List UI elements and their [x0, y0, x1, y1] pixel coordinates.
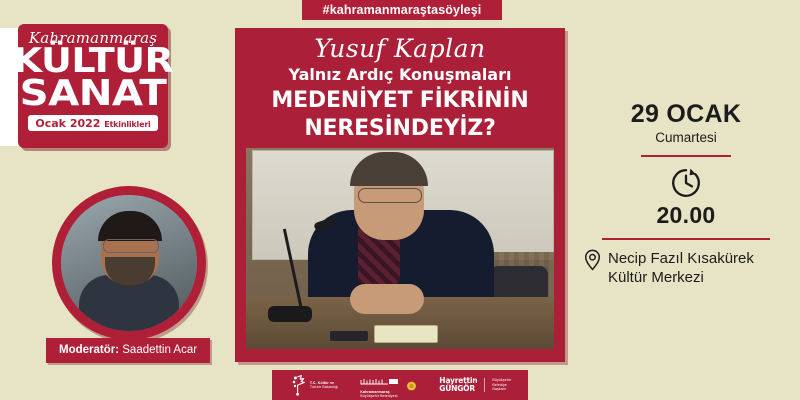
- event-date: 29 OCAK: [580, 100, 792, 128]
- divider-bottom: [602, 238, 770, 240]
- moderator-glasses: [103, 239, 159, 253]
- mayor-title-line-3: Başkanı: [492, 387, 511, 391]
- municipality-text: Kahramanmaraş Büyükşehir Belediyesi: [360, 372, 402, 399]
- clock-icon-wrap: [580, 166, 792, 200]
- location-pin-icon: [584, 249, 601, 271]
- logo-badge-small: Etkinlikleri: [104, 120, 150, 129]
- photo-book: [374, 325, 438, 343]
- speaker-name: Yusuf Kaplan: [235, 34, 565, 64]
- mayor-divider: [484, 378, 485, 392]
- event-card: Yusuf Kaplan Yalnız Ardıç Konuşmaları ME…: [235, 28, 565, 362]
- moderator-photo: [61, 195, 197, 331]
- logo-badge-main: Ocak 2022: [35, 117, 100, 130]
- event-title-line2: NERESİNDEYİZ?: [235, 117, 565, 141]
- event-poster: Kahramanmaraş KÜLTÜR SANAT Ocak 2022 Etk…: [0, 0, 800, 400]
- photo-speaker-glasses: [358, 188, 422, 203]
- event-info-panel: 29 OCAK Cumartesi 20.00 Necip Fazıl Kısa…: [580, 100, 792, 287]
- sponsor-footer-bar: T.C. Kültür ve Turizm Bakanlığı Kahraman…: [272, 370, 528, 400]
- ministry-text: T.C. Kültür ve Turizm Bakanlığı: [310, 381, 338, 390]
- sponsor-municipality: Kahramanmaraş Büyükşehir Belediyesi: [360, 372, 417, 399]
- mayor-name-line-2: GÜNGÖR: [439, 385, 477, 393]
- event-weekday: Cumartesi: [580, 129, 792, 147]
- logo-date-badge: Ocak 2022 Etkinlikleri: [28, 115, 157, 131]
- speaker-photo: [246, 148, 554, 349]
- venue-text: Necip Fazıl Kısakürek Kültür Merkezi: [608, 249, 754, 287]
- photo-speaker-hands: [350, 284, 424, 314]
- clock-icon: [669, 166, 703, 200]
- sponsor-ministry: T.C. Kültür ve Turizm Bakanlığı: [289, 374, 338, 396]
- event-title-line1: MEDENİYET FİKRİNİN: [235, 89, 565, 113]
- hashtag-banner: #kahramanmaraştasöyleşi: [302, 0, 502, 20]
- venue-line-2: Kültür Merkezi: [608, 268, 754, 287]
- photo-microphone-base: [268, 306, 312, 322]
- photo-phone: [330, 331, 368, 341]
- logo-word-sanat: SANAT: [9, 77, 177, 110]
- kultur-sanat-logo: Kahramanmaraş KÜLTÜR SANAT Ocak 2022 Etk…: [18, 24, 168, 148]
- ministry-line-2: Turizm Bakanlığı: [310, 385, 338, 389]
- event-series: Yalnız Ardıç Konuşmaları: [235, 65, 565, 85]
- ministry-emblem-icon: [289, 374, 306, 396]
- moderator-label: Moderatör: Saadettin Acar: [46, 338, 210, 363]
- divider-top: [641, 155, 731, 157]
- venue-line-1: Necip Fazıl Kısakürek: [608, 249, 754, 268]
- moderator-name: Saadettin Acar: [122, 344, 197, 356]
- moderator-label-text: Moderatör:: [59, 344, 119, 356]
- municipality-line-2: Büyükşehir Belediyesi: [360, 394, 402, 398]
- sponsor-mayor: Hayrettin GÜNGÖR Büyükşehir Belediye Baş…: [439, 377, 511, 393]
- moderator-avatar: [52, 186, 206, 340]
- mayor-name: Hayrettin GÜNGÖR: [439, 377, 477, 393]
- municipality-skyline-icon: [360, 377, 402, 385]
- mayor-title: Büyükşehir Belediye Başkanı: [492, 378, 511, 391]
- event-time: 20.00: [580, 202, 792, 228]
- municipality-seal-icon: [406, 380, 417, 391]
- event-venue: Necip Fazıl Kısakürek Kültür Merkezi: [580, 249, 792, 287]
